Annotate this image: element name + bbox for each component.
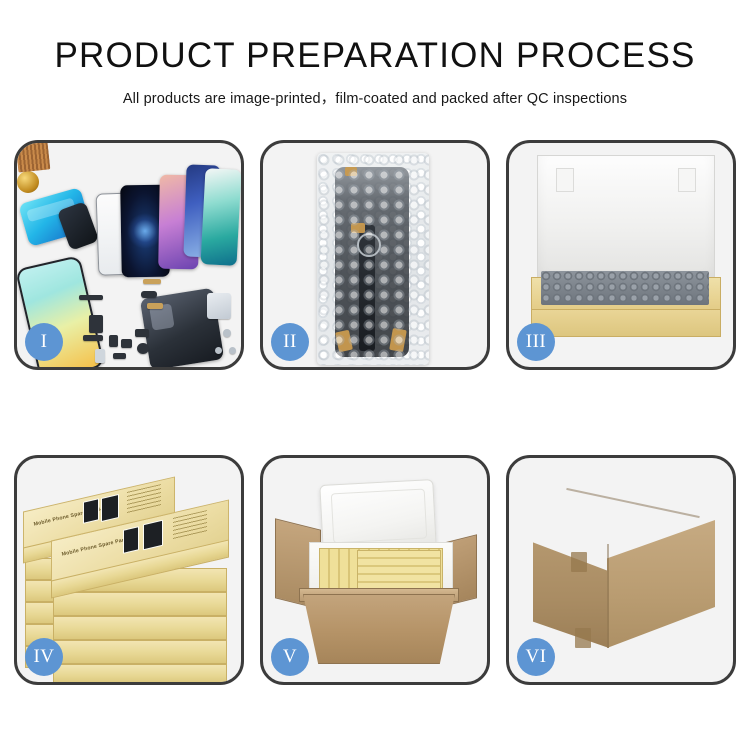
box-kraft-front-panel [531, 309, 721, 337]
stacked-box [53, 616, 227, 640]
spare-part-dot [223, 329, 231, 337]
box-window-graphic [143, 520, 163, 551]
carton-tape-patch-lower [575, 628, 591, 648]
spare-part-dot [121, 339, 132, 348]
packed-retail-boxes-secondary [357, 550, 441, 592]
process-step-panel-2[interactable]: II [260, 140, 490, 370]
step-badge-1: I [25, 323, 63, 361]
process-step-panel-4[interactable]: Mobile Phone Spare Parts Mobile Phone Sp… [14, 455, 244, 685]
carton-left-face [533, 528, 609, 648]
gold-speaker-part [17, 171, 39, 193]
spare-part-dot [147, 303, 163, 309]
logic-board-chip [17, 143, 50, 173]
spare-part-dot [83, 335, 103, 341]
step-badge-3: III [517, 323, 555, 361]
spare-part-dot [141, 291, 157, 298]
page-header: PRODUCT PREPARATION PROCESS All products… [0, 0, 750, 108]
carton-front-wall [303, 594, 455, 664]
process-step-grid: I II III [14, 140, 736, 685]
spare-part-dot [89, 315, 103, 333]
process-step-panel-6[interactable]: VI [506, 455, 736, 685]
step-badge-6: VI [517, 638, 555, 676]
page-title: PRODUCT PREPARATION PROCESS [0, 38, 750, 75]
spare-part-dot [215, 347, 222, 354]
stacked-box [53, 664, 227, 682]
spare-part-dot [109, 335, 118, 347]
spare-part-dot [135, 329, 149, 337]
carton-vertical-seam [607, 544, 609, 648]
carton-tape-patch-upper [571, 552, 587, 572]
stacked-box [53, 640, 227, 664]
box-white-lid [537, 155, 715, 285]
stacked-box [53, 592, 227, 616]
tape-tab-mid [351, 223, 365, 233]
lid-tab-right [678, 168, 696, 192]
process-step-panel-3[interactable]: III [506, 140, 736, 370]
camera-ring [357, 233, 381, 257]
spare-part-dot [143, 279, 161, 284]
spare-part-dot [207, 293, 231, 319]
spare-part-dot [79, 295, 103, 300]
lid-tab-left [556, 168, 574, 192]
tape-tab-top [345, 167, 357, 176]
step-badge-2: II [271, 323, 309, 361]
step-badge-5: V [271, 638, 309, 676]
spare-part-dot [229, 347, 236, 354]
bubble-wrap-bag [317, 153, 429, 365]
phone-dark-module [57, 201, 100, 251]
spare-part-dot [95, 349, 105, 363]
page-subtitle: All products are image-printed，film-coat… [0, 87, 750, 108]
phone-teal-display [201, 168, 241, 266]
process-step-panel-5[interactable]: V [260, 455, 490, 685]
spare-part-dot [113, 353, 126, 359]
process-step-panel-1[interactable]: I [14, 140, 244, 370]
spare-part-dot [137, 343, 149, 354]
bubble-padding-contents [541, 271, 709, 305]
box-window-graphic [83, 498, 99, 524]
box-window-graphic [123, 526, 139, 554]
box-window-graphic [101, 494, 119, 522]
step-badge-4: IV [25, 638, 63, 676]
